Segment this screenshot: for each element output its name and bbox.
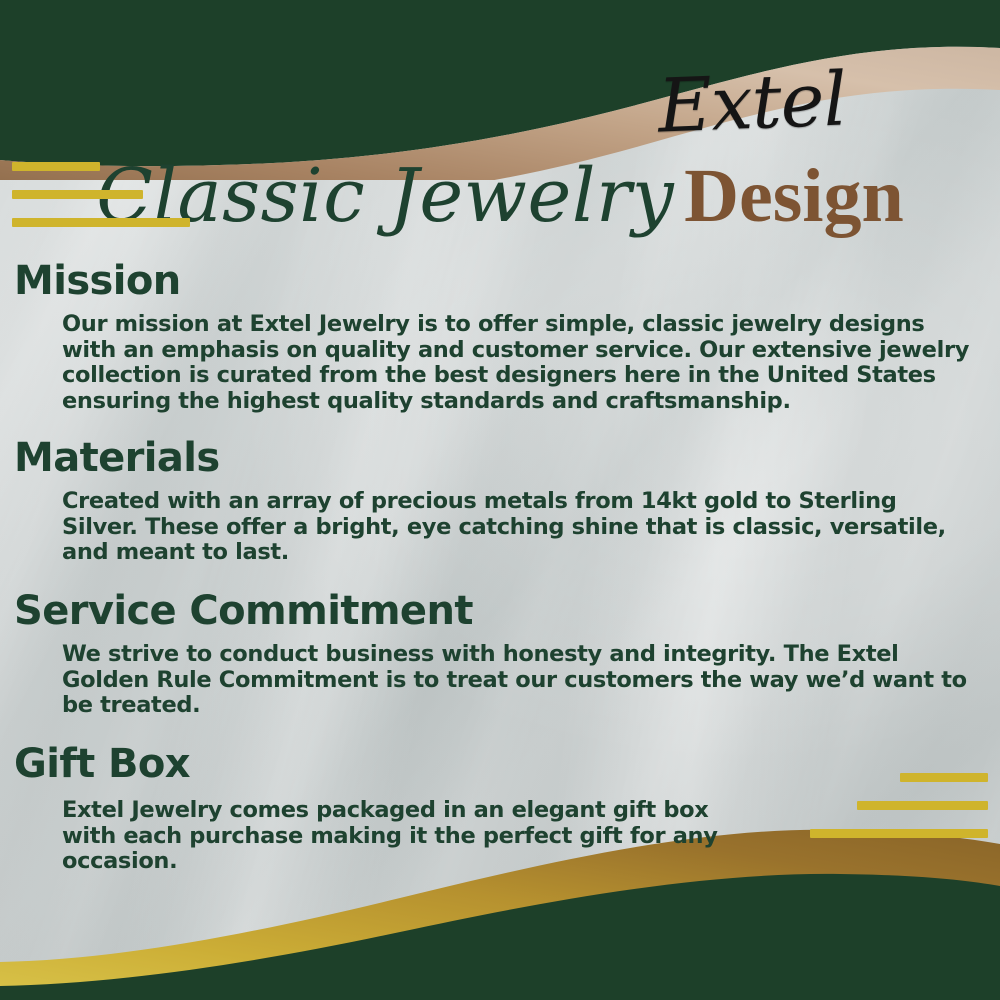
section-heading: Materials <box>0 435 1000 482</box>
poster-canvas: Extel Classic JewelryDesign Mission Our … <box>0 0 1000 1000</box>
content-sections: Mission Our mission at Extel Jewelry is … <box>0 258 1000 881</box>
title-script-part: Classic Jewelry <box>96 153 674 239</box>
section-heading: Service Commitment <box>0 588 1000 635</box>
section-materials: Materials Created with an array of preci… <box>0 435 1000 566</box>
section-service-commitment: Service Commitment We strive to conduct … <box>0 588 1000 719</box>
section-heading: Mission <box>0 258 1000 305</box>
section-body: Our mission at Extel Jewelry is to offer… <box>0 312 1000 415</box>
section-body: We strive to conduct business with hones… <box>0 642 1000 719</box>
section-gift-box: Gift Box Extel Jewelry comes packaged in… <box>0 741 1000 875</box>
section-body: Extel Jewelry comes packaged in an elega… <box>0 798 1000 875</box>
section-body: Created with an array of precious metals… <box>0 489 1000 566</box>
brand-logo: Extel <box>611 61 894 146</box>
title-serif-part: Design <box>684 154 904 238</box>
page-title: Classic JewelryDesign <box>0 158 1000 234</box>
section-heading: Gift Box <box>0 741 1000 788</box>
section-mission: Mission Our mission at Extel Jewelry is … <box>0 258 1000 415</box>
